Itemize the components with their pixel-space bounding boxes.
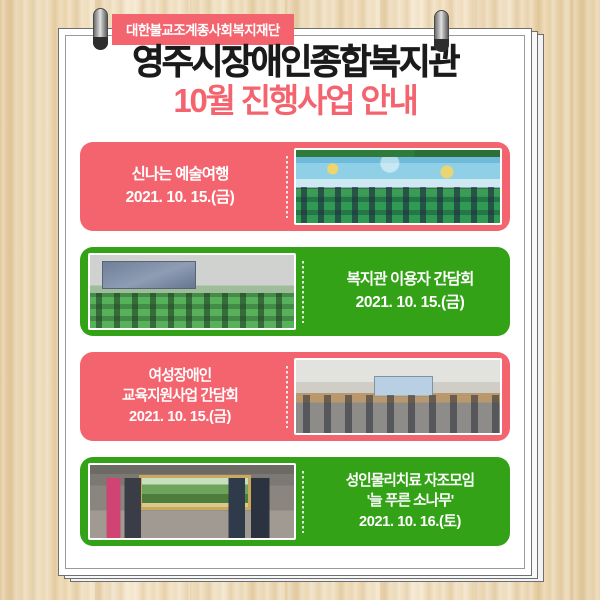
event-date: 2021. 10. 15.(금) [126, 187, 235, 209]
binder-pin-left-icon [93, 8, 108, 50]
event-row: 복지관 이용자 간담회 2021. 10. 15.(금) [80, 247, 510, 336]
event-text-block: 신나는 예술여행 2021. 10. 15.(금) [80, 142, 280, 231]
page-title: 영주시장애인종합복지관 [58, 44, 532, 81]
event-date: 2021. 10. 16.(토) [359, 512, 461, 532]
event-title: 복지관 이용자 간담회 [346, 269, 473, 291]
event-subtitle: '늘 푸른 소나무' [367, 491, 454, 511]
photo-conference-room [294, 358, 502, 435]
dotted-divider-icon [280, 352, 294, 441]
event-row: 여성장애인 교육지원사업 간담회 2021. 10. 15.(금) [80, 352, 510, 441]
dotted-divider-icon [296, 457, 310, 546]
photo-group-mural [88, 463, 296, 540]
event-subtitle: 교육지원사업 간담회 [122, 386, 238, 406]
event-text-block: 복지관 이용자 간담회 2021. 10. 15.(금) [310, 247, 510, 336]
page-subtitle: 10월 진행사업 안내 [58, 83, 532, 119]
photo-concert-hall [294, 148, 502, 225]
event-date: 2021. 10. 15.(금) [356, 292, 465, 314]
organization-badge: 대한불교조계종사회복지재단 [112, 14, 294, 45]
event-list: 신나는 예술여행 2021. 10. 15.(금) 복지관 이용자 간담회 20… [80, 142, 510, 562]
dotted-divider-icon [296, 247, 310, 336]
event-title: 신나는 예술여행 [132, 164, 229, 186]
event-title: 여성장애인 [149, 366, 212, 386]
event-row: 신나는 예술여행 2021. 10. 15.(금) [80, 142, 510, 231]
event-title: 성인물리치료 자조모임 [346, 471, 474, 491]
event-text-block: 성인물리치료 자조모임 '늘 푸른 소나무' 2021. 10. 16.(토) [310, 457, 510, 546]
photo-meeting-hall [88, 253, 296, 330]
poster-root: 대한불교조계종사회복지재단 영주시장애인종합복지관 10월 진행사업 안내 신나… [0, 0, 600, 600]
poster-title-block: 영주시장애인종합복지관 10월 진행사업 안내 [58, 44, 532, 119]
event-row: 성인물리치료 자조모임 '늘 푸른 소나무' 2021. 10. 16.(토) [80, 457, 510, 546]
event-text-block: 여성장애인 교육지원사업 간담회 2021. 10. 15.(금) [80, 352, 280, 441]
binder-pin-right-icon [434, 10, 449, 52]
event-date: 2021. 10. 15.(금) [129, 407, 231, 427]
poster-content: 대한불교조계종사회복지재단 영주시장애인종합복지관 10월 진행사업 안내 신나… [58, 28, 532, 576]
dotted-divider-icon [280, 142, 294, 231]
